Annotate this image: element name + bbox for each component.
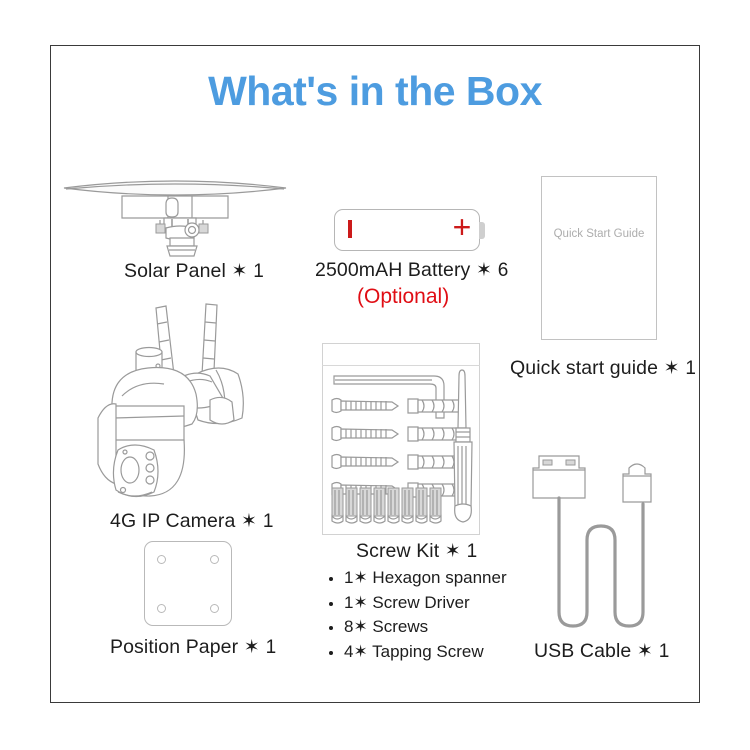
position-paper-label: Position Paper	[110, 636, 238, 658]
position-paper-hole	[157, 604, 166, 613]
usb-cable-caption: USB Cable ✶ 1	[534, 640, 670, 663]
ip-camera-qty: ✶ 1	[241, 511, 274, 532]
booklet-icon	[541, 176, 657, 340]
booklet-cover-text: Quick Start Guide	[541, 228, 657, 240]
list-item: 1✶ Hexagon spanner	[344, 566, 544, 591]
screw-kit-bolts-art	[331, 486, 447, 528]
quick-start-guide-label: Quick start guide	[510, 357, 658, 379]
screw-kit-contents-list: 1✶ Hexagon spanner 1✶ Screw Driver 8✶ Sc…	[329, 566, 544, 664]
position-paper-qty: ✶ 1	[244, 637, 277, 658]
ip-camera-label: 4G IP Camera	[110, 510, 235, 532]
solar-panel-label: Solar Panel	[124, 260, 226, 282]
screwdriver-icon	[445, 368, 485, 526]
usb-cable-label: USB Cable	[534, 640, 631, 662]
quick-start-guide-qty: ✶ 1	[664, 358, 697, 379]
battery-label: 2500mAH Battery	[315, 259, 470, 281]
position-paper-hole	[210, 604, 219, 613]
solar-panel-caption: Solar Panel ✶ 1	[124, 260, 264, 283]
screw-kit-box-divider	[322, 365, 480, 366]
solar-panel-qty: ✶ 1	[231, 261, 264, 282]
battery-terminal-nub	[479, 222, 485, 239]
battery-optional-note: (Optional)	[357, 285, 449, 309]
screw-kit-qty: ✶ 1	[445, 541, 478, 562]
screw-kit-caption: Screw Kit ✶ 1	[356, 540, 477, 563]
quick-start-guide-caption: Quick start guide ✶ 1	[510, 357, 696, 380]
packaging-contents-infographic: What's in the Box Solar Panel ✶ 1 +	[0, 0, 750, 750]
position-paper-icon	[144, 541, 232, 626]
battery-qty: ✶ 6	[476, 260, 509, 281]
list-item: 8✶ Screws	[344, 615, 544, 640]
page-title: What's in the Box	[0, 68, 750, 115]
position-paper-hole	[157, 555, 166, 564]
ptz-camera-icon	[88, 300, 278, 505]
ip-camera-caption: 4G IP Camera ✶ 1	[110, 510, 274, 533]
usb-cable-qty: ✶ 1	[637, 641, 670, 662]
position-paper-hole	[210, 555, 219, 564]
battery-minus-terminal-icon	[348, 220, 352, 238]
solar-panel-icon	[60, 172, 290, 260]
position-paper-caption: Position Paper ✶ 1	[110, 636, 276, 659]
battery-plus-terminal-icon: +	[450, 216, 474, 240]
screw-kit-label: Screw Kit	[356, 540, 439, 562]
battery-caption: 2500mAH Battery ✶ 6	[315, 259, 509, 282]
list-item: 1✶ Screw Driver	[344, 591, 544, 616]
list-item: 4✶ Tapping Screw	[344, 640, 544, 665]
usb-cable-icon	[525, 448, 665, 638]
